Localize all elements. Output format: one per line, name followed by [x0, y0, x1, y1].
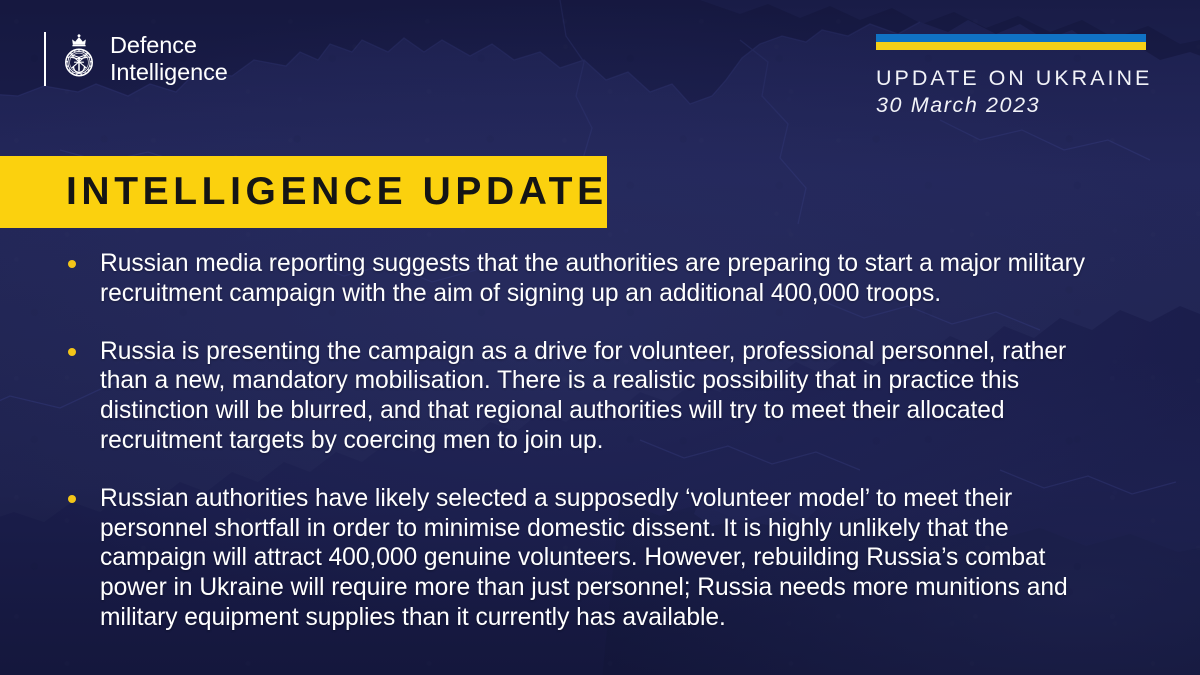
list-item: Russian media reporting suggests that th…	[0, 249, 1200, 309]
bullet-list: Russian media reporting suggests that th…	[0, 249, 1200, 633]
bullet-paragraph-2: Russia is presenting the campaign as a d…	[100, 337, 1100, 456]
poster-header: Defence Intelligence UPDATE ON UKRAINE 3…	[0, 0, 1200, 150]
logo-wordmark-line1: Defence	[110, 32, 228, 59]
flag-stripe-yellow	[876, 42, 1146, 50]
bullet-paragraph-3: Russian authorities have likely selected…	[100, 484, 1100, 633]
bullet-dot-icon	[68, 260, 76, 268]
mod-defence-intelligence-crest-icon	[59, 32, 99, 86]
logo-wordmark: Defence Intelligence	[110, 32, 228, 86]
intelligence-update-banner: INTELLIGENCE UPDATE	[0, 156, 607, 228]
update-date: 30 March 2023	[876, 91, 1146, 119]
ukraine-flag-bar-icon	[876, 34, 1146, 50]
bullet-dot-icon	[68, 348, 76, 356]
logo-divider-rule	[44, 32, 46, 86]
defence-intelligence-logo: Defence Intelligence	[44, 32, 228, 86]
update-header-block: UPDATE ON UKRAINE 30 March 2023	[876, 34, 1146, 119]
logo-wordmark-line2: Intelligence	[110, 59, 228, 86]
intelligence-update-poster: Defence Intelligence UPDATE ON UKRAINE 3…	[0, 0, 1200, 675]
bullet-dot-icon	[68, 495, 76, 503]
list-item: Russian authorities have likely selected…	[0, 484, 1200, 633]
update-title: UPDATE ON UKRAINE	[876, 66, 1146, 91]
flag-stripe-blue	[876, 34, 1146, 42]
banner-title: INTELLIGENCE UPDATE	[66, 170, 608, 214]
bullet-paragraph-1: Russian media reporting suggests that th…	[100, 249, 1100, 309]
list-item: Russia is presenting the campaign as a d…	[0, 337, 1200, 456]
